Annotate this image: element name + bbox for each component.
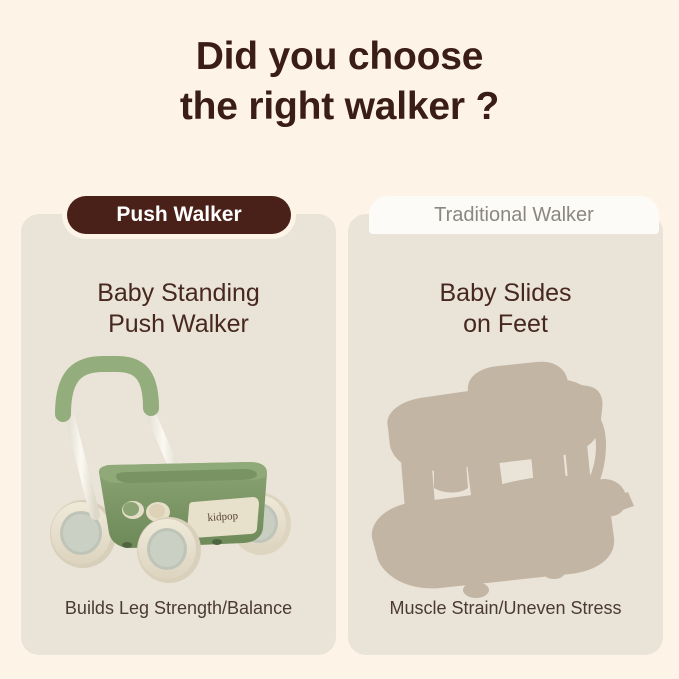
brand-label-panel: kidpop	[187, 497, 259, 538]
page-title-line-1: Did you choose	[0, 32, 679, 82]
comparison-card-push-walker: Baby Standing Push Walker	[21, 214, 336, 655]
tab-push-walker-label: Push Walker	[116, 203, 241, 227]
traditional-walker-image	[348, 352, 663, 602]
card-caption-push-walker: Builds Leg Strength/Balance	[21, 598, 336, 619]
tab-traditional-walker-label: Traditional Walker	[434, 204, 594, 227]
wheel-front-right	[137, 517, 201, 583]
handle-grip	[63, 364, 151, 414]
comparison-card-traditional-walker: Baby Slides on Feet	[348, 214, 663, 655]
card-title-line-2: on Feet	[348, 309, 663, 340]
walker-silhouette	[372, 362, 634, 598]
tab-traditional-walker[interactable]: Traditional Walker	[369, 196, 659, 234]
page-title: Did you choose the right walker ?	[0, 32, 679, 132]
brand-logo-text: kidpop	[207, 510, 239, 524]
card-caption-traditional-walker: Muscle Strain/Uneven Stress	[348, 598, 663, 619]
card-title-traditional-walker: Baby Slides on Feet	[348, 278, 663, 340]
card-title-line-1: Baby Standing	[21, 278, 336, 309]
page-title-line-2: the right walker ?	[0, 82, 679, 132]
push-walker-image: kidpop	[21, 352, 336, 602]
tab-push-walker[interactable]: Push Walker	[67, 196, 291, 234]
card-title-line-2: Push Walker	[21, 309, 336, 340]
card-title-line-1: Baby Slides	[348, 278, 663, 309]
comparison-section: Baby Standing Push Walker	[0, 196, 679, 658]
card-title-push-walker: Baby Standing Push Walker	[21, 278, 336, 340]
